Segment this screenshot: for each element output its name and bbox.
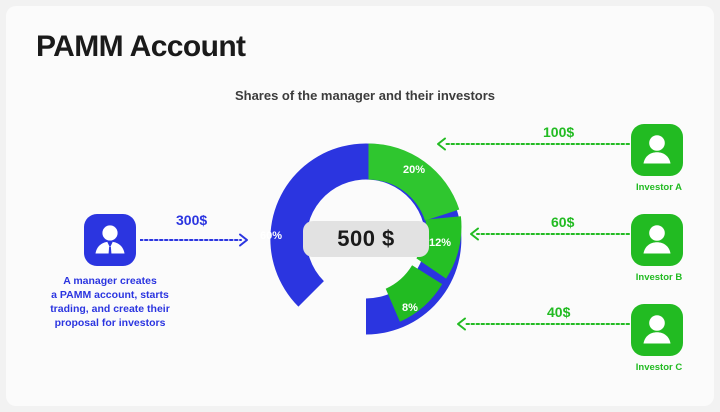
donut-slice-investor-a[interactable] [369,144,460,221]
investor-c-dashed-arrow-icon [456,316,630,332]
donut-label-manager: 60% [260,230,282,242]
manager-amount-label: 300$ [176,212,207,228]
investor-c-card[interactable]: Investor C [631,304,687,373]
infographic-card: PAMM Account Shares of the manager and t… [6,6,714,406]
manager-caption-line-4: proposal for investors [24,316,196,330]
donut-label-investor-b: 12% [429,237,451,249]
investor-a-dashed-arrow-icon [436,136,630,152]
investor-b-icon[interactable] [631,214,683,266]
investor-a-icon[interactable] [631,124,683,176]
manager-person-icon [84,214,136,266]
manager-caption-line-3: trading, and create their [24,302,196,316]
chart-subtitle: Shares of the manager and their investor… [210,88,520,103]
investor-b-dashed-arrow-icon [469,226,630,242]
donut-center-total-badge: 500 $ [303,221,429,257]
manager-caption: A manager creates a PAMM account, starts… [24,274,196,330]
investor-b-name: Investor B [631,272,687,283]
investor-c-icon[interactable] [631,304,683,356]
manager-caption-line-2: a PAMM account, starts [24,288,196,302]
investor-person-icon [631,304,683,356]
investor-b-card[interactable]: Investor B [631,214,687,283]
donut-label-investor-c: 8% [402,302,418,314]
investor-person-icon [631,214,683,266]
manager-dashed-arrow-icon [140,232,252,248]
manager-icon[interactable] [84,214,136,266]
page-title: PAMM Account [36,30,245,64]
investor-person-icon [631,124,683,176]
investor-a-name: Investor A [631,182,687,193]
donut-label-investor-a: 20% [403,164,425,176]
manager-caption-line-1: A manager creates [24,274,196,288]
investor-c-name: Investor C [631,362,687,373]
investor-a-card[interactable]: Investor A [631,124,687,193]
donut-chart: 60% 20% 12% 8% 500 $ [251,124,481,354]
